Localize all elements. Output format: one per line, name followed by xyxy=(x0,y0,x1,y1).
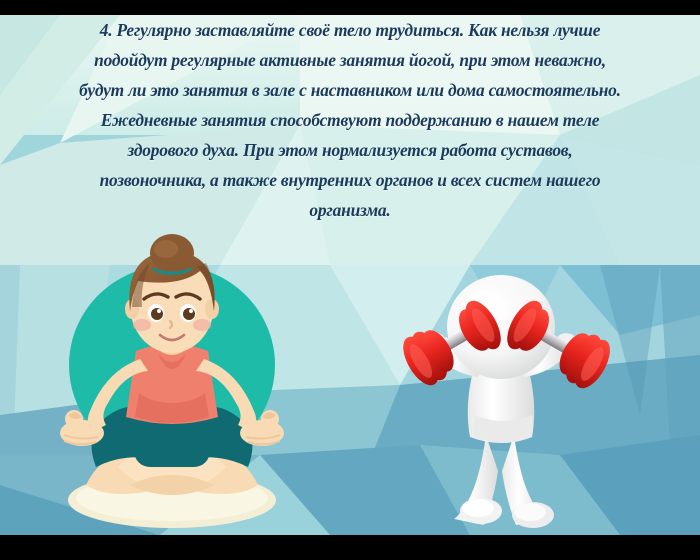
slide-root: 4. Регулярно заставляйте своё тело труди… xyxy=(0,0,700,560)
yoga-woman-illustration xyxy=(60,234,284,528)
text-line: 4. Регулярно заставляйте своё тело труди… xyxy=(22,15,678,45)
text-line: Ежедневные занятия способствуют поддержа… xyxy=(22,105,678,135)
text-line: подойдут регулярные активные занятия йог… xyxy=(22,45,678,75)
dumbbell-man-illustration xyxy=(396,275,617,528)
letterbox-bar-bottom xyxy=(0,535,700,560)
text-line: позвоночника, а также внутренних органов… xyxy=(22,165,678,195)
text-line: здорового духа. При этом нормализуется р… xyxy=(22,135,678,165)
text-line: будут ли это занятия в зале с наставнико… xyxy=(22,75,678,105)
slide-body-text: 4. Регулярно заставляйте своё тело труди… xyxy=(0,15,700,225)
text-line: организма. xyxy=(22,195,678,225)
letterbox-bar-top xyxy=(0,0,700,15)
